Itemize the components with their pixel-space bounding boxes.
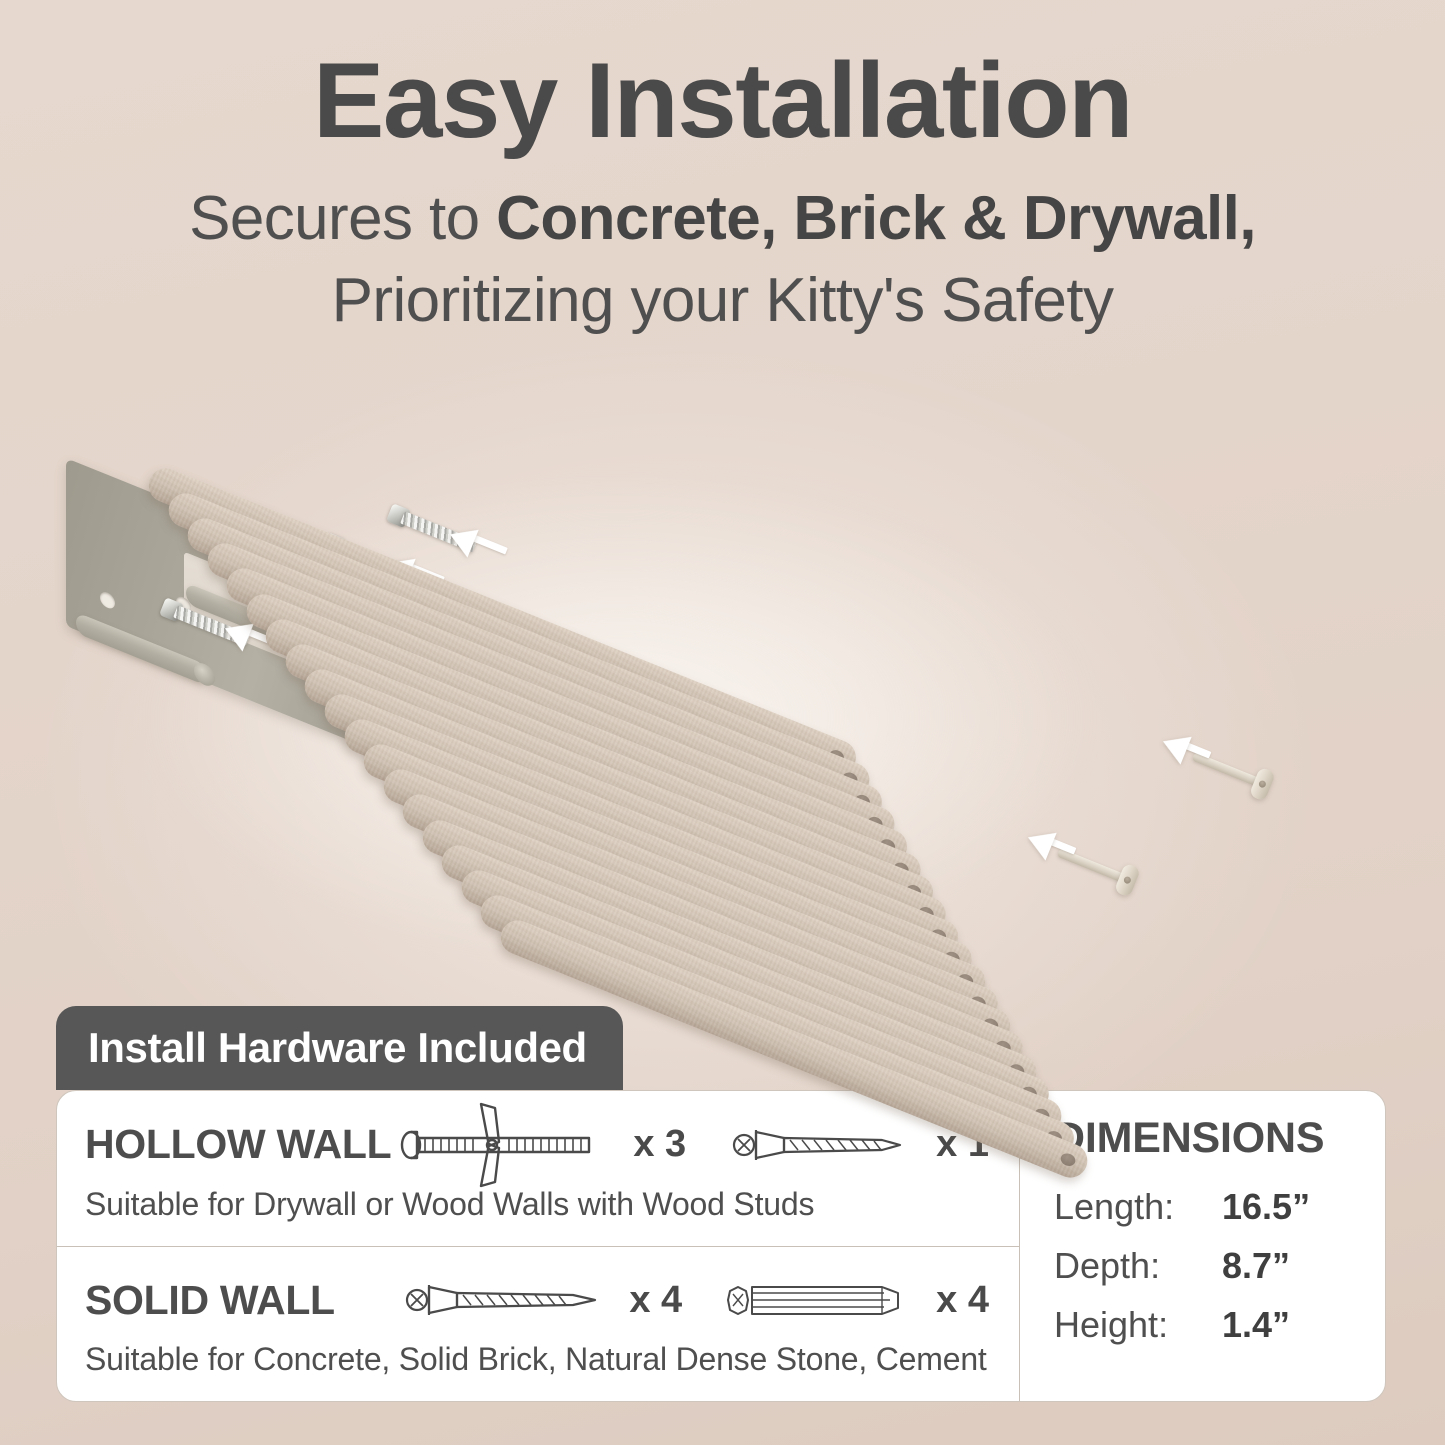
dimension-value: 8.7” [1222, 1245, 1290, 1287]
headline-block: Easy Installation Secures to Concrete, B… [0, 44, 1445, 339]
toggle-bolt-item: x 3 [399, 1102, 686, 1188]
install-hardware-tab-label: Install Hardware Included [88, 1024, 587, 1072]
wall-anchor-item: x 4 [722, 1273, 989, 1327]
dimension-row-length: Length: 16.5” [1054, 1186, 1385, 1228]
dimension-label: Depth: [1054, 1245, 1222, 1287]
dimensions-list: Length: 16.5” Depth: 8.7” Height: 1.4” [1054, 1186, 1385, 1346]
cat-shelf-render [0, 400, 1445, 1040]
hardware-row-hollow-wall: HOLLOW WALL [57, 1091, 1019, 1247]
wood-screw-icon [405, 1273, 615, 1327]
subtitle-line-2: Prioritizing your Kitty's Safety [0, 263, 1445, 339]
solid-wall-subtitle: Suitable for Concrete, Solid Brick, Natu… [85, 1341, 989, 1378]
wood-screw-icon [732, 1118, 922, 1172]
dimension-row-height: Height: 1.4” [1054, 1304, 1385, 1346]
toggle-bolt-qty: x 3 [633, 1123, 686, 1166]
dimension-value: 1.4” [1222, 1304, 1290, 1346]
dimension-value: 16.5” [1222, 1186, 1310, 1228]
infographic-page: Easy Installation Secures to Concrete, B… [0, 0, 1445, 1445]
solid-wall-title: SOLID WALL [85, 1277, 405, 1324]
slat-deck [150, 462, 1340, 992]
wall-anchor-qty: x 4 [936, 1279, 989, 1322]
wood-screw-item: x 4 [405, 1273, 682, 1327]
dimension-row-depth: Depth: 8.7” [1054, 1245, 1385, 1287]
subtitle-prefix: Secures to [189, 184, 496, 253]
subtitle-emphasis: Concrete, Brick & Drywall, [496, 184, 1256, 253]
dimension-label: Height: [1054, 1304, 1222, 1346]
page-title: Easy Installation [0, 44, 1445, 157]
hardware-row-header: HOLLOW WALL [85, 1114, 989, 1176]
wood-screw-qty: x 4 [629, 1279, 682, 1322]
dimension-label: Length: [1054, 1186, 1222, 1228]
dimensions-title: DIMENSIONS [1054, 1117, 1385, 1160]
product-illustration [0, 400, 1445, 1040]
hollow-wall-title: HOLLOW WALL [85, 1121, 399, 1168]
install-hardware-tab: Install Hardware Included [56, 1006, 623, 1090]
hardware-column: HOLLOW WALL [57, 1091, 1020, 1401]
hardware-row-solid-wall: SOLID WALL [57, 1247, 1019, 1402]
hardware-dimensions-card: HOLLOW WALL [56, 1090, 1386, 1402]
install-hardware-panel: Install Hardware Included HOLLOW WALL [56, 1006, 1386, 1402]
hardware-row-header: SOLID WALL [85, 1269, 989, 1331]
dimensions-column: DIMENSIONS Length: 16.5” Depth: 8.7” Hei… [1020, 1091, 1385, 1401]
hollow-wall-subtitle: Suitable for Drywall or Wood Walls with … [85, 1186, 989, 1223]
wall-anchor-icon [722, 1273, 922, 1327]
subtitle-line-1: Secures to Concrete, Brick & Drywall, [0, 181, 1445, 257]
toggle-bolt-icon [399, 1102, 619, 1188]
